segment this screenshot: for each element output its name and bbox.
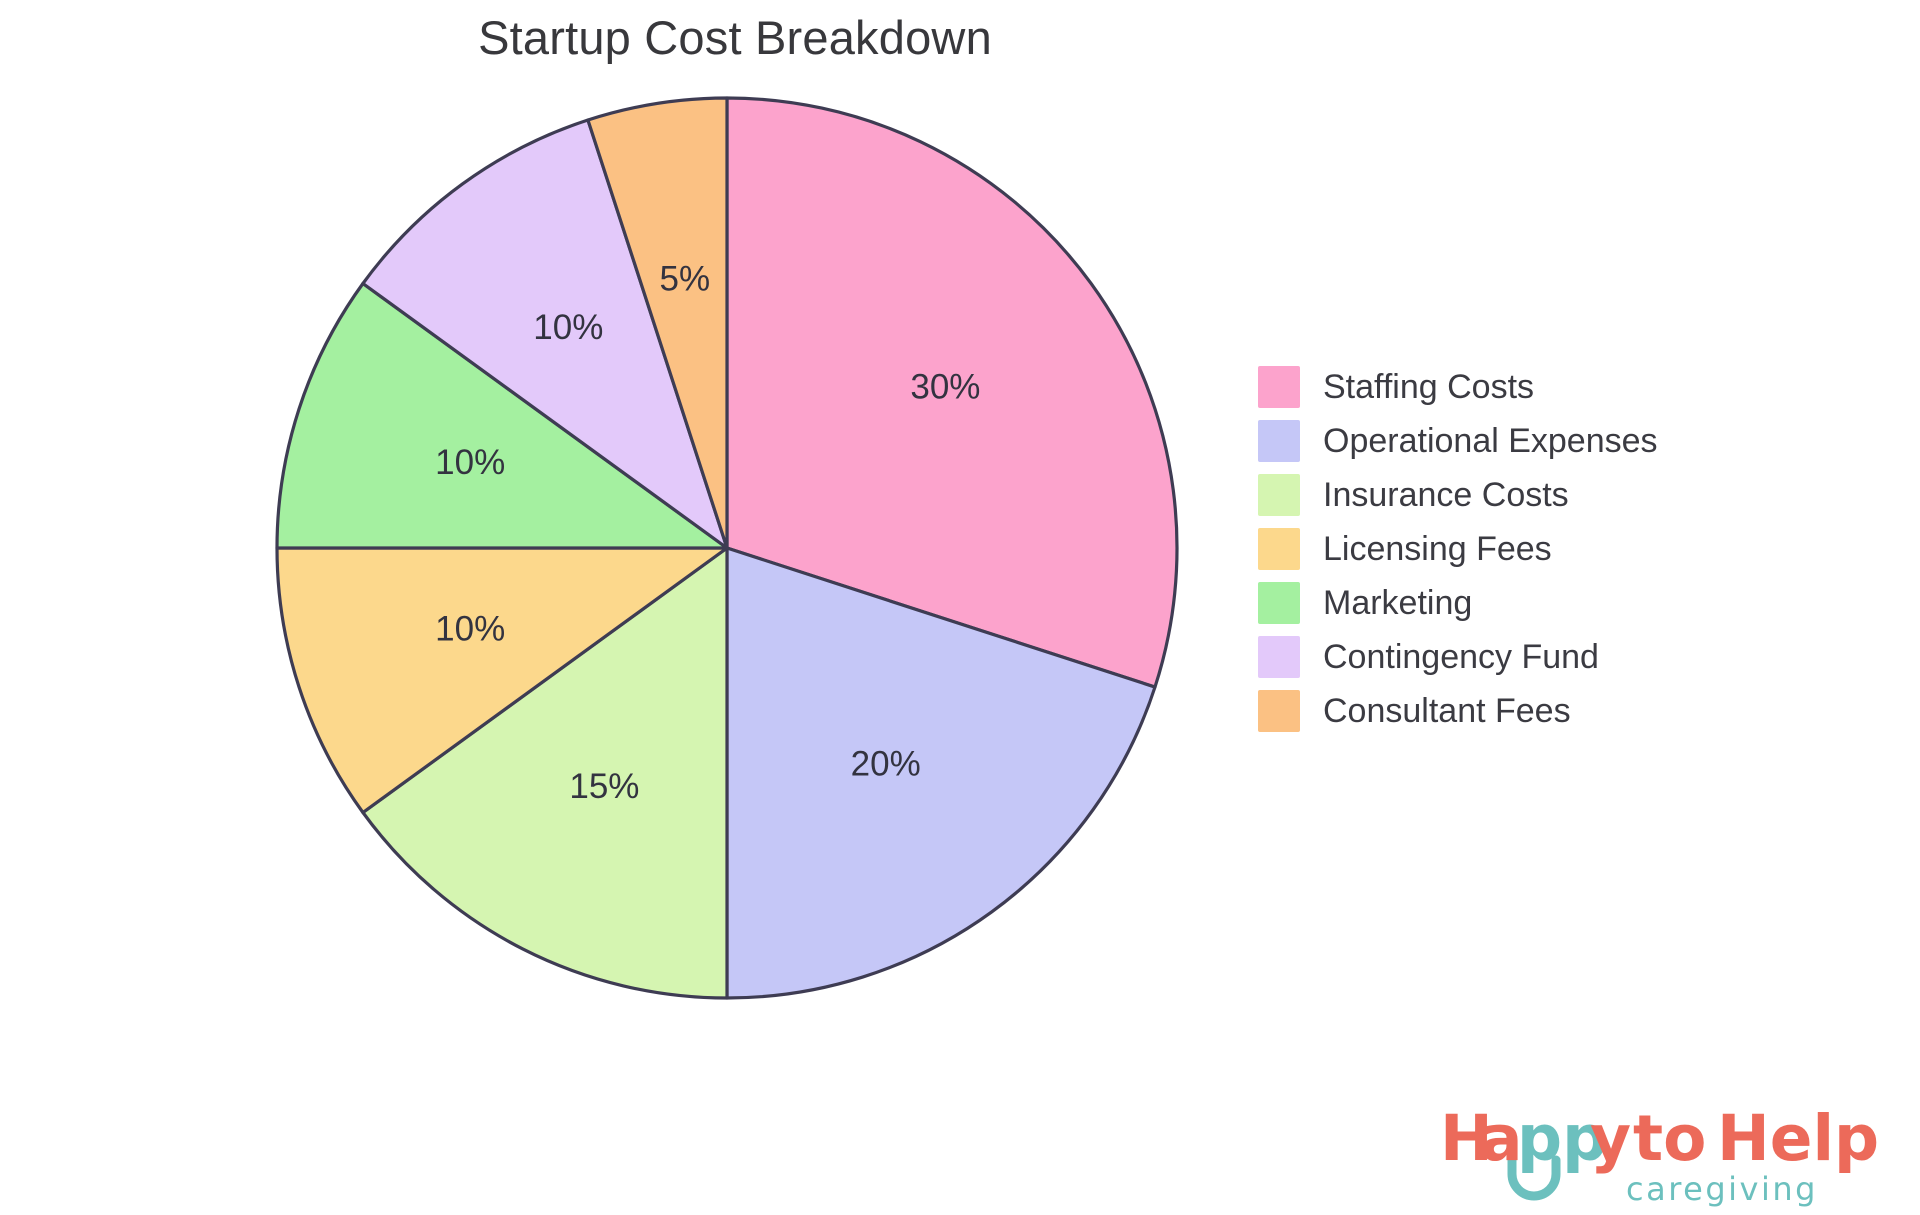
logo-text-to: to [1633, 1108, 1706, 1175]
pie-slice-value-label: 10% [533, 308, 603, 347]
legend-color-swatch [1258, 636, 1300, 678]
logo-text-caregiving: caregiving [1626, 1170, 1818, 1208]
legend-color-swatch [1258, 582, 1300, 624]
legend-color-swatch [1258, 474, 1300, 516]
legend-color-swatch [1258, 420, 1300, 462]
legend-item[interactable]: Operational Expenses [1258, 414, 1778, 468]
legend-color-swatch [1258, 690, 1300, 732]
legend-item-label: Insurance Costs [1323, 478, 1569, 512]
chart-legend: Staffing CostsOperational ExpensesInsura… [1258, 360, 1778, 738]
legend-item[interactable]: Licensing Fees [1258, 522, 1778, 576]
legend-item[interactable]: Consultant Fees [1258, 684, 1778, 738]
legend-item-label: Licensing Fees [1323, 532, 1552, 566]
pie-slice-value-label: 5% [660, 260, 711, 299]
legend-item-label: Contingency Fund [1323, 640, 1599, 674]
pie-slice-value-label: 15% [569, 767, 639, 806]
chart-title: Startup Cost Breakdown [0, 10, 1470, 65]
logo-text-help: Help [1717, 1108, 1879, 1175]
legend-item[interactable]: Insurance Costs [1258, 468, 1778, 522]
legend-color-swatch [1258, 528, 1300, 570]
brand-logo: H a pp y to Help caregiving [1440, 1108, 1900, 1208]
legend-item-label: Consultant Fees [1323, 694, 1571, 728]
pie-chart-plot-area: 30%20%15%10%10%10%5% [275, 96, 1179, 1000]
legend-item-label: Operational Expenses [1323, 424, 1658, 458]
legend-color-swatch [1258, 366, 1300, 408]
pie-slice-value-label: 30% [910, 368, 980, 407]
legend-item[interactable]: Marketing [1258, 576, 1778, 630]
pie-chart-figure: Startup Cost Breakdown 30%20%15%10%10%10… [0, 0, 1920, 1215]
legend-item[interactable]: Contingency Fund [1258, 630, 1778, 684]
pie-slice-value-label: 20% [851, 745, 921, 784]
logo-text-happy-y: y [1590, 1108, 1631, 1175]
pie-slice-value-label: 10% [435, 610, 505, 649]
legend-item-label: Staffing Costs [1323, 370, 1534, 404]
logo-svg: H a pp y to Help caregiving [1440, 1108, 1900, 1208]
pie-svg: 30%20%15%10%10%10%5% [275, 96, 1179, 1000]
legend-item[interactable]: Staffing Costs [1258, 360, 1778, 414]
legend-item-label: Marketing [1323, 586, 1472, 620]
pie-slices-group [277, 98, 1177, 998]
pie-slice-value-label: 10% [435, 443, 505, 482]
